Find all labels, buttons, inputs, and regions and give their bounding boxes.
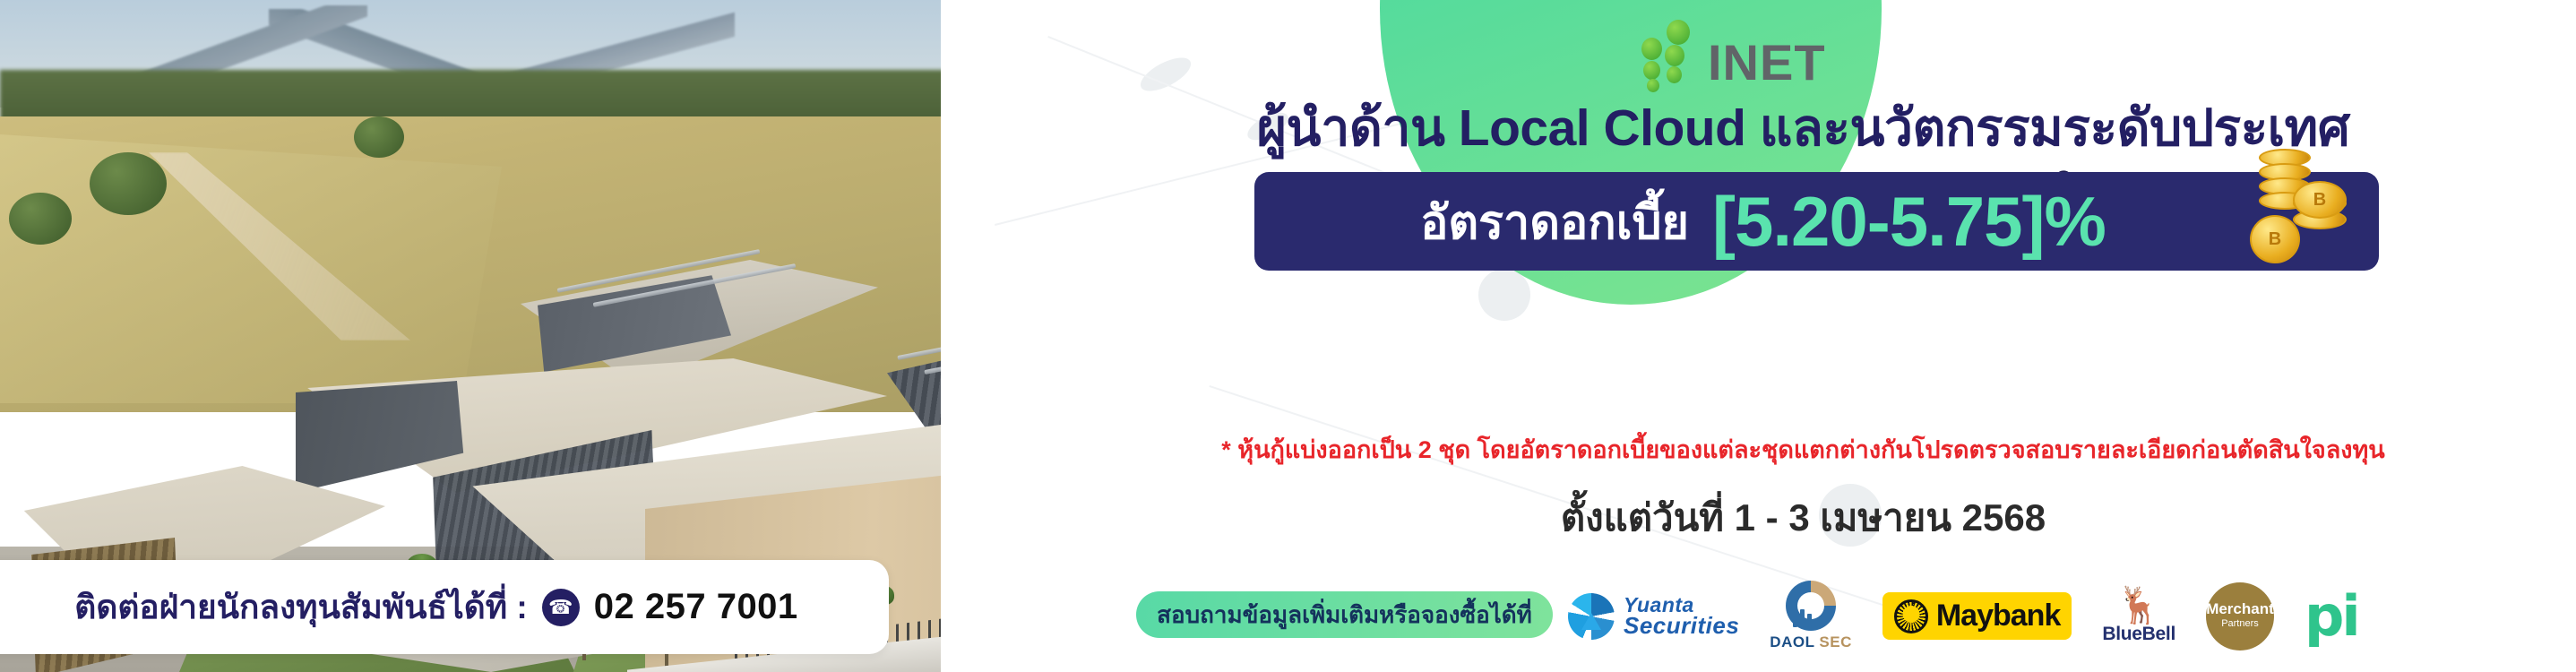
gold-coin-face: B	[2250, 215, 2300, 263]
bluebell-label: BlueBell	[2102, 624, 2175, 645]
merchant-label-line2: Partners	[2221, 616, 2259, 632]
broker-logo-merchant[interactable]: Merchant Partners	[2206, 582, 2274, 650]
broker-logo-bluebell[interactable]: 🦌 BlueBell	[2102, 588, 2175, 645]
gold-coins-icon: B B	[2243, 145, 2359, 280]
pi-logo-icon: pi	[2305, 594, 2358, 639]
interest-rate-value: [5.20-5.75]%	[1712, 186, 2106, 256]
footnote-text: * หุ้นกู้แบ่งออกเป็น 2 ชุด โดยอัตราดอกเบ…	[1030, 430, 2576, 469]
yuanta-triangle-icon	[1581, 613, 1601, 630]
phone-icon: ☎	[542, 589, 580, 626]
broker-logo-daol[interactable]: DAOL SEC	[1770, 581, 1852, 651]
broker-logo-yuanta[interactable]: Yuanta Securities	[1568, 593, 1739, 640]
broker-logo-pi[interactable]: pi	[2305, 594, 2358, 639]
maybank-tiger-icon	[1894, 599, 1928, 633]
offer-period: ตั้งแต่วันที่ 1 - 3 เมษายน 2568	[1030, 488, 2576, 547]
inet-dots-logo	[1640, 18, 1699, 86]
contact-phone-number[interactable]: 02 257 7001	[594, 587, 798, 627]
interest-rate-banner: อัตราดอกเบี้ย [5.20-5.75]% B B	[1254, 172, 2379, 271]
promotional-banner: INET ผู้นำด้าน Local Cloud และนวัตกรรมระ…	[0, 0, 2576, 672]
bluebell-deer-icon: 🦌	[2116, 588, 2161, 624]
merchant-circle-icon: Merchant Partners	[2206, 582, 2274, 650]
banner-content: INET ผู้นำด้าน Local Cloud และนวัตกรรมระ…	[1030, 0, 2576, 672]
broker-logos: Yuanta Securities DAOL SEC Maybank 🦌 Blu…	[1568, 578, 2572, 654]
broker-logo-maybank[interactable]: Maybank	[1882, 592, 2072, 640]
maybank-label: Maybank	[1936, 599, 2061, 633]
daol-label: DAOL SEC	[1770, 633, 1852, 651]
photo-tree	[354, 116, 404, 158]
gold-coin-face: B	[2293, 181, 2347, 219]
photo-field-secondary	[0, 134, 502, 403]
merchant-label-line1: Merchant	[2206, 601, 2274, 616]
contact-label: ติดต่อฝ่ายนักลงทุนสัมพันธ์ได้ที่ :	[74, 581, 527, 633]
daol-pie-icon	[1786, 581, 1836, 631]
photo-tree	[9, 193, 72, 245]
investor-relations-contact: ติดต่อฝ่ายนักลงทุนสัมพันธ์ได้ที่ : ☎ 02 …	[0, 560, 889, 654]
yuanta-label-line2: Securities	[1624, 615, 1739, 637]
cta-button[interactable]: สอบถามข้อมูลเพิ่มเติมหรือจองซื้อได้ที่	[1136, 591, 1553, 638]
photo-tree	[90, 152, 167, 215]
inet-logo-text: INET	[1708, 39, 1826, 86]
inet-logo: INET	[1640, 16, 1944, 86]
interest-rate-label: อัตราดอกเบี้ย	[1420, 185, 1689, 259]
